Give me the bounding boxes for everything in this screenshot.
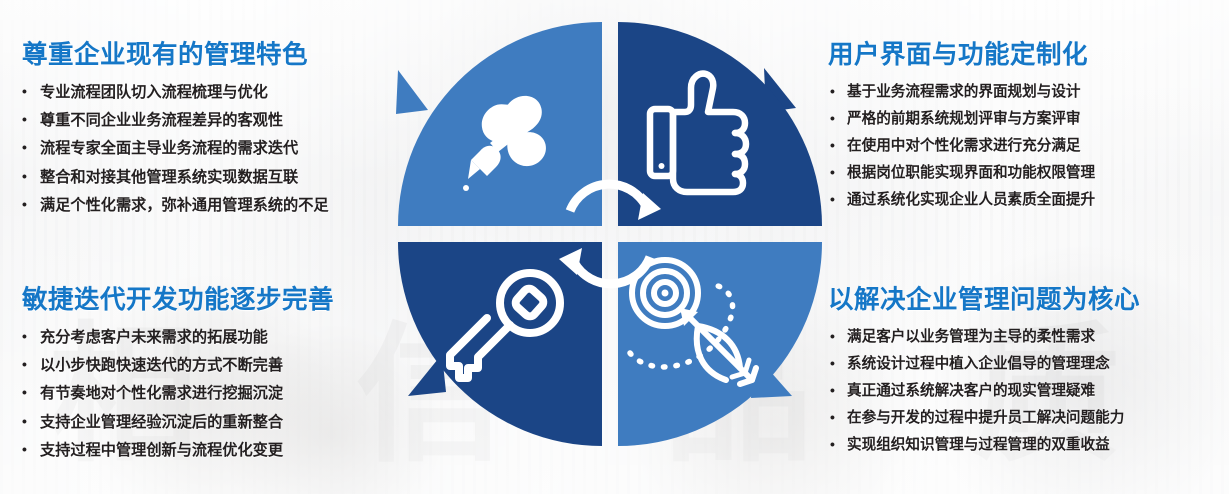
list-item: 专业流程团队切入流程梳理与优化 bbox=[18, 85, 418, 100]
list-item: 真正通过系统解决客户的现实管理疑难 bbox=[826, 384, 1226, 399]
list-item: 支持企业管理经验沉淀后的重新整合 bbox=[18, 415, 418, 430]
list-item: 根据岗位职能实现界面和功能权限管理 bbox=[826, 166, 1226, 181]
bullet-list-top-left: 专业流程团队切入流程梳理与优化 尊重不同企业业务流程差异的客观性 流程专家全面主… bbox=[18, 85, 418, 213]
panel-top-left: 尊重企业现有的管理特色 专业流程团队切入流程梳理与优化 尊重不同企业业务流程差异… bbox=[18, 34, 418, 226]
list-item: 系统设计过程中植入企业倡导的管理理念 bbox=[826, 357, 1226, 372]
panel-title-bottom-right: 以解决企业管理问题为核心 bbox=[828, 279, 1226, 316]
slide-canvas: 相 信 品 质 尊重企业现有的管理特色 专业流程团队切入流程梳理与优化 尊重不同… bbox=[0, 0, 1229, 494]
list-item: 严格的前期系统规划评审与方案评审 bbox=[826, 112, 1226, 127]
panel-title-top-right: 用户界面与功能定制化 bbox=[828, 34, 1226, 71]
bullet-list-bottom-right: 满足客户以业务管理为主导的柔性需求 系统设计过程中植入企业倡导的管理理念 真正通… bbox=[826, 330, 1226, 453]
panel-title-top-left: 尊重企业现有的管理特色 bbox=[22, 34, 418, 71]
list-item: 以小步快跑快速迭代的方式不断完善 bbox=[18, 358, 418, 373]
list-item: 尊重不同企业业务流程差异的客观性 bbox=[18, 113, 418, 128]
panel-bottom-left: 敏捷迭代开发功能逐步完善 充分考虑客户未来需求的拓展功能 以小步快跑快速迭代的方… bbox=[18, 279, 418, 471]
list-item: 在参与开发的过程中提升员工解决问题能力 bbox=[826, 411, 1226, 426]
list-item: 满足个性化需求，弥补通用管理系统的不足 bbox=[18, 198, 418, 213]
list-item: 整合和对接其他管理系统实现数据互联 bbox=[18, 170, 418, 185]
list-item: 流程专家全面主导业务流程的需求迭代 bbox=[18, 141, 418, 156]
bullet-list-top-right: 基于业务流程需求的界面规划与设计 严格的前期系统规划评审与方案评审 在使用中对个… bbox=[826, 85, 1226, 208]
list-item: 实现组织知识管理与过程管理的双重收益 bbox=[826, 438, 1226, 453]
list-item: 支持过程中管理创新与流程优化变更 bbox=[18, 443, 418, 458]
list-item: 满足客户以业务管理为主导的柔性需求 bbox=[826, 330, 1226, 345]
list-item: 基于业务流程需求的界面规划与设计 bbox=[826, 85, 1226, 100]
panel-top-right: 用户界面与功能定制化 基于业务流程需求的界面规划与设计 严格的前期系统规划评审与… bbox=[826, 34, 1226, 220]
panel-title-bottom-left: 敏捷迭代开发功能逐步完善 bbox=[22, 279, 418, 316]
wheel-quadrants bbox=[398, 22, 822, 446]
list-item: 在使用中对个性化需求进行充分满足 bbox=[826, 139, 1226, 154]
corner-arrow-top-left-icon bbox=[396, 70, 428, 114]
quadrant-wheel-diagram bbox=[380, 8, 840, 488]
panel-bottom-right: 以解决企业管理问题为核心 满足客户以业务管理为主导的柔性需求 系统设计过程中植入… bbox=[826, 279, 1226, 465]
bullet-list-bottom-left: 充分考虑客户未来需求的拓展功能 以小步快跑快速迭代的方式不断完善 有节奏地对个性… bbox=[18, 330, 418, 458]
quadrant-bottom-left[interactable] bbox=[398, 242, 602, 446]
list-item: 通过系统化实现企业人员素质全面提升 bbox=[826, 193, 1226, 208]
list-item: 有节奏地对个性化需求进行挖掘沉淀 bbox=[18, 386, 418, 401]
list-item: 充分考虑客户未来需求的拓展功能 bbox=[18, 330, 418, 345]
